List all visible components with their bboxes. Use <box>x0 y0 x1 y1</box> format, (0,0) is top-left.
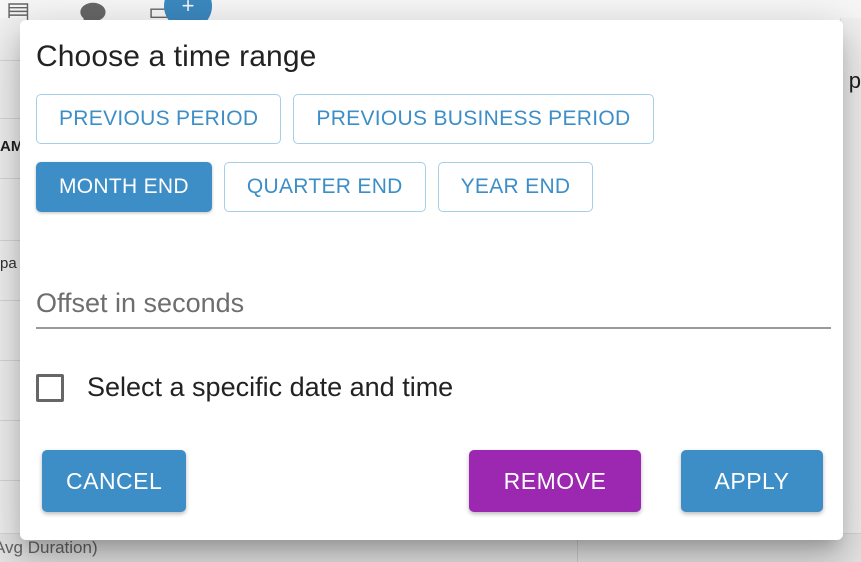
dialog-actions: CANCEL REMOVE APPLY <box>40 450 823 512</box>
offset-underline <box>36 327 831 329</box>
chip-previous-period[interactable]: PREVIOUS PERIOD <box>36 94 281 144</box>
chip-year-end[interactable]: YEAR END <box>438 162 594 212</box>
dialog-title: Choose a time range <box>36 40 316 74</box>
apply-button[interactable]: APPLY <box>681 450 823 512</box>
remove-button[interactable]: REMOVE <box>469 450 641 512</box>
specific-datetime-row[interactable]: Select a specific date and time <box>36 372 453 403</box>
time-range-dialog: Choose a time range PREVIOUS PERIOD PREV… <box>20 20 843 540</box>
specific-datetime-checkbox[interactable] <box>36 374 64 402</box>
chip-previous-business-period[interactable]: PREVIOUS BUSINESS PERIOD <box>293 94 653 144</box>
offset-field <box>36 288 831 329</box>
offset-input[interactable] <box>36 288 831 327</box>
specific-datetime-label: Select a specific date and time <box>87 372 453 403</box>
chip-month-end[interactable]: MONTH END <box>36 162 212 212</box>
chip-quarter-end[interactable]: QUARTER END <box>224 162 426 212</box>
cancel-button[interactable]: CANCEL <box>42 450 186 512</box>
boundary-chip-group: MONTH END QUARTER END YEAR END <box>36 162 593 212</box>
period-chip-group: PREVIOUS PERIOD PREVIOUS BUSINESS PERIOD <box>36 94 654 144</box>
